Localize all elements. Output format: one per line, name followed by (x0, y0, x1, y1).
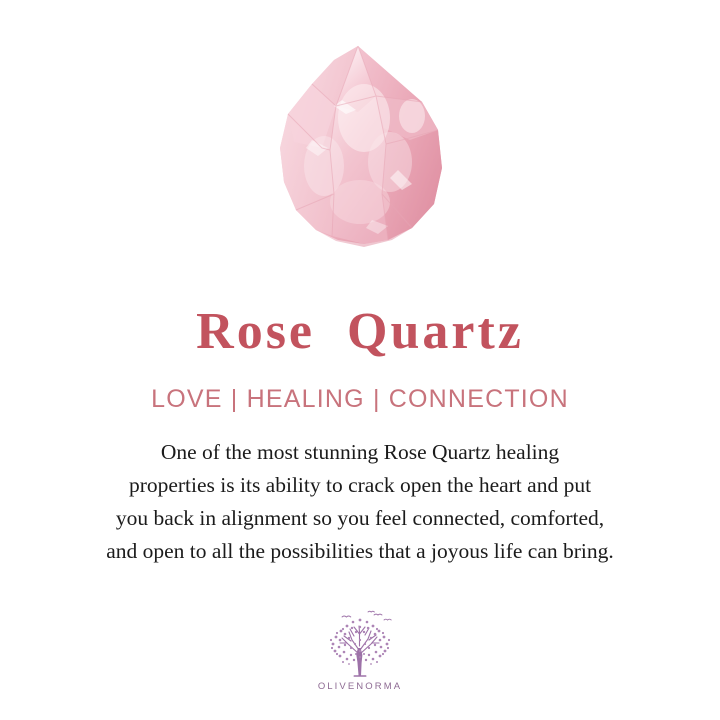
tree-logo-icon (318, 610, 402, 678)
brand-logo: OLIVENORMA (0, 610, 720, 692)
description-paragraph: One of the most stunning Rose Quartz hea… (24, 436, 696, 568)
rose-quartz-crystal-image (272, 44, 448, 250)
description-line: properties is its ability to crack open … (24, 469, 696, 502)
description-line: and open to all the possibilities that a… (24, 535, 696, 568)
rose-quartz-info-card: Rose Quartz LOVE | HEALING | CONNECTION … (0, 0, 720, 720)
brand-wordmark: OLIVENORMA (318, 681, 402, 692)
keywords-subtitle: LOVE | HEALING | CONNECTION (151, 387, 569, 412)
crystal-image-container (0, 0, 720, 270)
description-line: One of the most stunning Rose Quartz hea… (24, 436, 696, 469)
page-title: Rose Quartz (196, 306, 524, 358)
description-line: you back in alignment so you feel connec… (24, 502, 696, 535)
